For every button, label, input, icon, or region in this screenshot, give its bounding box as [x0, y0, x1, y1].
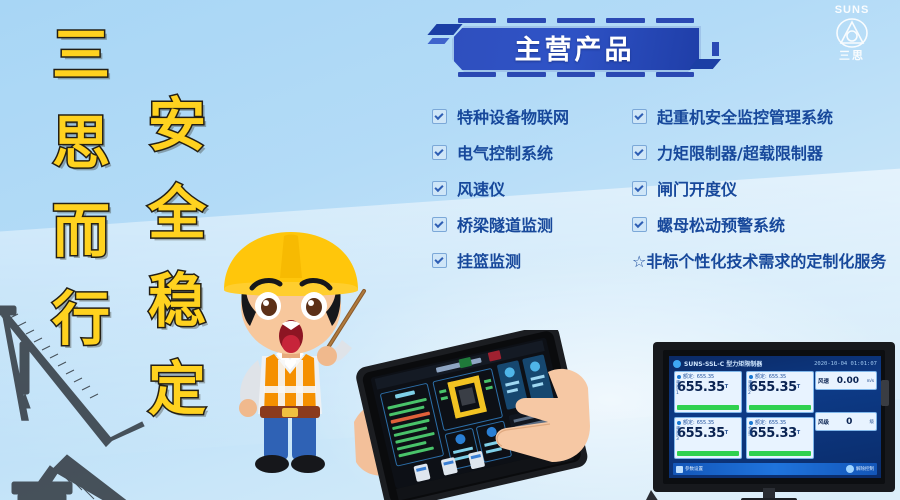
rated-value: 655.35	[769, 420, 787, 426]
footer-right-group[interactable]: 解除控制	[846, 465, 874, 473]
weight-card[interactable]: 额定: 655.35 重量2 655.35T	[746, 371, 814, 413]
logo-wordmark: SUNS	[816, 4, 888, 16]
slogan-char: 而	[52, 202, 110, 260]
rated-value: 655.35	[697, 420, 715, 426]
product-item: 螺母松动预警系统	[632, 212, 882, 236]
screen-title: SUNS-SSL-C 型力矩限制器	[684, 359, 762, 368]
weight-number: 655.35	[677, 380, 725, 395]
screen-footer: 参数设置 解除控制	[673, 463, 877, 475]
load-bar	[677, 405, 739, 410]
status-dot-icon	[749, 421, 753, 425]
checkbox-checked-icon	[632, 109, 647, 124]
product-label: 风速仪	[457, 176, 505, 200]
circle-triangle-a-icon	[835, 17, 869, 49]
custom-service-note: ☆非标个性化技术需求的定制化服务	[632, 248, 882, 272]
product-label: 力矩限制器/超载限制器	[657, 140, 823, 164]
load-bar	[677, 451, 739, 456]
wind-speed-unit: m/s	[867, 378, 874, 383]
weight-card[interactable]: 额定: 655.35 重量3 655.35T	[674, 417, 742, 459]
checkbox-checked-icon	[432, 145, 447, 160]
weight-value: 655.35T	[677, 426, 739, 441]
product-row: 风速仪 闸门开度仪	[432, 176, 884, 200]
weight-unit: T	[725, 384, 728, 390]
screen-timestamp: 2020-10-04 01:01:07	[814, 361, 877, 367]
poster-canvas: 三 思 而 行 安 全 稳 定 SUNS 三思 主营产品	[0, 0, 900, 500]
weight-number: 655.35	[749, 380, 797, 395]
product-row-last: 挂篮监测 ☆非标个性化技术需求的定制化服务	[432, 248, 884, 272]
banner-corner-accent	[712, 42, 719, 56]
product-label: 特种设备物联网	[457, 104, 569, 128]
rated-row: 额定: 655.35	[749, 373, 811, 380]
product-row: 特种设备物联网 起重机安全监控管理系统	[432, 104, 884, 128]
wind-speed-value: 0.00	[831, 376, 865, 386]
product-item: 起重机安全监控管理系统	[632, 104, 882, 128]
footer-right-label: 解除控制	[856, 466, 874, 472]
rated-label: 额定:	[755, 373, 767, 380]
company-logo: SUNS 三思	[816, 4, 888, 70]
product-label: 闸门开度仪	[657, 176, 737, 200]
wind-level-label: 风级	[818, 418, 829, 426]
wind-level-readout[interactable]: 风级 0 级	[815, 412, 877, 431]
wind-speed-readout[interactable]: 风速 0.00 m/s	[815, 371, 877, 390]
footer-left-label[interactable]: 参数设置	[685, 466, 703, 472]
rated-row: 额定: 655.35	[749, 419, 811, 426]
rated-value: 655.35	[697, 374, 715, 380]
card-name: 重量2	[748, 381, 755, 396]
wind-readouts: 风速 0.00 m/s 风级 0 级	[815, 371, 877, 459]
custom-service-label: ☆非标个性化技术需求的定制化服务	[632, 248, 886, 272]
wind-speed-label: 风速	[818, 377, 829, 385]
wind-level-unit: 级	[870, 419, 875, 425]
product-item: 挂篮监测	[432, 248, 632, 272]
weight-value: 655.35T	[677, 380, 739, 395]
weight-unit: T	[725, 430, 728, 436]
settings-icon	[676, 466, 683, 473]
rated-row: 额定: 655.35	[677, 419, 739, 426]
banner-dash-top	[458, 18, 694, 23]
checkbox-checked-icon	[632, 217, 647, 232]
weight-card[interactable]: 额定: 655.35 重量1 655.35T	[674, 371, 742, 413]
banner-title: 主营产品	[452, 26, 697, 68]
card-name: 重量3	[676, 427, 683, 442]
product-item: 风速仪	[432, 176, 632, 200]
checkbox-checked-icon	[432, 181, 447, 196]
weight-unit: T	[797, 384, 800, 390]
wind-level-value: 0	[831, 417, 867, 427]
load-bar	[749, 451, 811, 456]
product-label: 桥梁隧道监测	[457, 212, 553, 236]
monitor-screen-content: SUNS-SSL-C 型力矩限制器 2020-10-04 01:01:07 额定…	[645, 340, 900, 500]
rated-label: 额定:	[683, 373, 695, 380]
rated-label: 额定:	[755, 419, 767, 426]
screen-logo-icon	[673, 360, 681, 368]
tablet-device-illustration	[352, 330, 592, 500]
rated-row: 额定: 655.35	[677, 373, 739, 380]
product-list: 特种设备物联网 起重机安全监控管理系统 电气控制系统 力矩限制器/超载限制器 风…	[432, 104, 884, 284]
status-dot-icon	[677, 375, 681, 379]
slogan-char: 行	[52, 290, 110, 348]
torque-limiter-screen: SUNS-SSL-C 型力矩限制器 2020-10-04 01:01:07 额定…	[669, 356, 881, 478]
banner-dash-bottom	[458, 72, 694, 77]
product-row: 电气控制系统 力矩限制器/超载限制器	[432, 140, 884, 164]
slogan-char: 三	[52, 26, 110, 84]
card-name: 重量1	[676, 381, 683, 396]
product-item: 闸门开度仪	[632, 176, 882, 200]
product-label: 螺母松动预警系统	[657, 212, 785, 236]
weight-value: 655.35T	[749, 380, 811, 395]
product-item: 桥梁隧道监测	[432, 212, 632, 236]
status-dot-icon	[749, 375, 753, 379]
weight-number: 655.35	[677, 426, 725, 441]
product-label: 起重机安全监控管理系统	[657, 104, 833, 128]
checkbox-checked-icon	[432, 253, 447, 268]
banner-corner-accent	[427, 38, 449, 44]
slogan-char: 安	[148, 96, 206, 154]
section-banner: 主营产品	[430, 22, 720, 72]
checkbox-checked-icon	[432, 109, 447, 124]
checkbox-checked-icon	[632, 181, 647, 196]
weight-number: 655.33	[749, 426, 797, 441]
slogan-char: 思	[52, 114, 110, 172]
product-item: 力矩限制器/超载限制器	[632, 140, 882, 164]
weight-card-grid: 额定: 655.35 重量1 655.35T 额定: 655.35 重	[674, 371, 814, 459]
screen-header: SUNS-SSL-C 型力矩限制器 2020-10-04 01:01:07	[673, 358, 877, 369]
product-row: 桥梁隧道监测 螺母松动预警系统	[432, 212, 884, 236]
load-bar	[749, 405, 811, 410]
product-item: 电气控制系统	[432, 140, 632, 164]
rated-label: 额定:	[683, 419, 695, 426]
weight-unit: T	[797, 430, 800, 436]
weight-card[interactable]: 额定: 655.35 合重 655.33T	[746, 417, 814, 459]
product-label: 挂篮监测	[457, 248, 521, 272]
product-label: 电气控制系统	[457, 140, 553, 164]
weight-value: 655.33T	[749, 426, 811, 441]
checkbox-checked-icon	[432, 217, 447, 232]
product-item: 特种设备物联网	[432, 104, 632, 128]
checkbox-checked-icon	[632, 145, 647, 160]
logo-chinese-name: 三思	[816, 50, 888, 62]
rated-value: 655.35	[769, 374, 787, 380]
release-control-icon	[846, 465, 854, 473]
status-dot-icon	[677, 421, 681, 425]
card-name: 合重	[748, 427, 755, 437]
